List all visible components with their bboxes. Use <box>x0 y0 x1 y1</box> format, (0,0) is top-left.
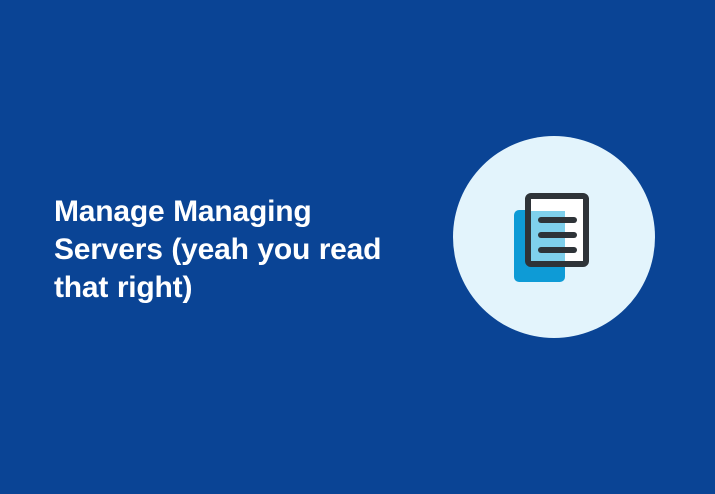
illustration <box>453 136 655 338</box>
page-line-2 <box>538 232 577 238</box>
page-title: Manage Managing Servers (yeah you read t… <box>54 193 414 307</box>
page-line-1 <box>538 217 577 223</box>
slide-canvas: Manage Managing Servers (yeah you read t… <box>0 0 715 494</box>
document-stack-icon <box>509 191 599 283</box>
page-line-3 <box>538 247 577 253</box>
heading-block: Manage Managing Servers (yeah you read t… <box>54 193 414 307</box>
